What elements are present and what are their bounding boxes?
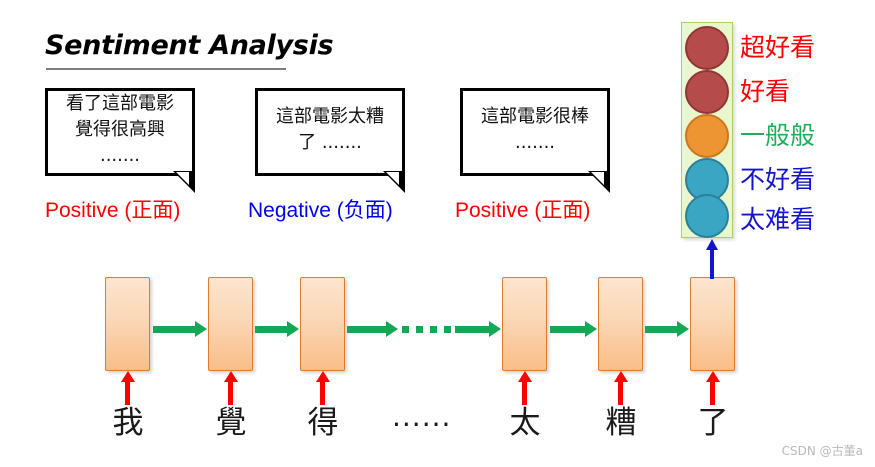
watermark: CSDN @古董a: [782, 442, 863, 459]
rating-label-3: 一般般: [740, 116, 815, 152]
rnn-block-3: [300, 277, 345, 371]
rating-dot-3: [685, 114, 729, 158]
rnn-block-4: [502, 277, 547, 371]
bubble-tail-inner: [386, 172, 399, 185]
rating-label-4: 不好看: [740, 160, 815, 196]
rnn-block-2: [208, 277, 253, 371]
recurrent-arrow-6: [645, 326, 678, 333]
review-text: 看了這部電影覺得很高興 .......: [58, 91, 182, 169]
review-text: 這部電影很棒 .......: [473, 104, 597, 156]
review-bubble-2: 這部電影太糟了 .......: [255, 88, 405, 176]
recurrent-arrow-1: [153, 326, 196, 333]
token-ellipsis: ......: [392, 400, 451, 433]
rnn-block-6: [690, 277, 735, 371]
rating-dot-1: [685, 26, 729, 70]
review-label-2: Negative (负面): [248, 194, 393, 224]
output-arrow: [710, 249, 714, 279]
page-title: Sentiment Analysis: [45, 30, 333, 61]
review-bubble-1: 看了這部電影覺得很高興 .......: [45, 88, 195, 176]
token-3: 得: [303, 397, 343, 442]
title-underline: [46, 68, 286, 70]
rating-dot-5: [685, 194, 729, 238]
review-text: 這部電影太糟了 .......: [268, 104, 392, 156]
rating-label-1: 超好看: [740, 28, 815, 64]
recurrent-arrow-4: [455, 326, 490, 333]
review-label-1: Positive (正面): [45, 194, 180, 224]
token-2: 覺: [211, 397, 251, 442]
rating-label-5: 太难看: [740, 200, 815, 236]
diagram-canvas: Sentiment Analysis 看了這部電影覺得很高興 ....... P…: [0, 0, 875, 467]
review-bubble-3: 這部電影很棒 .......: [460, 88, 610, 176]
token-5: 太: [505, 397, 545, 442]
rating-dot-2: [685, 70, 729, 114]
token-1: 我: [108, 397, 148, 442]
rnn-block-5: [598, 277, 643, 371]
bubble-tail-inner: [176, 172, 189, 185]
token-7: 了: [693, 397, 733, 442]
recurrent-arrow-5: [550, 326, 586, 333]
recurrent-arrow-3: [347, 326, 387, 333]
recurrent-arrow-2: [255, 326, 288, 333]
bubble-tail-inner: [591, 172, 604, 185]
token-6: 糟: [601, 397, 641, 442]
review-label-3: Positive (正面): [455, 194, 590, 224]
rating-label-2: 好看: [740, 72, 790, 108]
rnn-block-1: [105, 277, 150, 371]
